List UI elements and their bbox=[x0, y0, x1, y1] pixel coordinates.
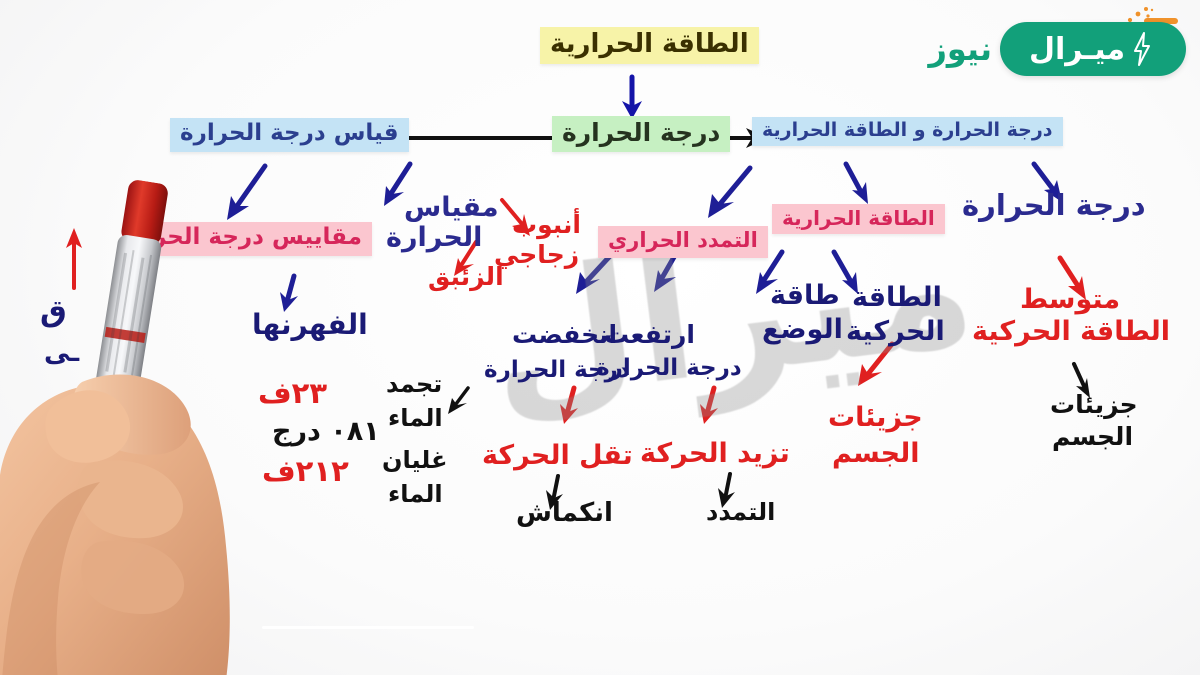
node-body-molecules-center-line2: الجسم bbox=[832, 440, 920, 469]
node-glass-tube-line1: أنبوب bbox=[512, 212, 581, 239]
node-temperature: درجة الحرارة bbox=[552, 116, 730, 152]
site-logo[interactable]: نيوز ميـرال bbox=[928, 14, 1186, 84]
node-measuring-temperature: قياس درجة الحرارة bbox=[170, 118, 409, 152]
node-temperature-and-thermal-energy: درجة الحرارة و الطاقة الحرارية bbox=[752, 117, 1063, 146]
node-temperature-right: درجة الحرارة bbox=[962, 190, 1146, 221]
node-mercury: الزئبق bbox=[428, 264, 504, 291]
node-body-molecules-center-line1: جزيئات bbox=[828, 404, 923, 433]
node-boil-water-line2: الماء bbox=[388, 482, 443, 507]
node-thermometer-line2: الحرارة bbox=[386, 224, 482, 253]
arrow-to-freeze-water bbox=[440, 382, 484, 426]
arrow-tae-to-expansion bbox=[690, 162, 760, 232]
node-temperature-rose-line1: ارتفعت bbox=[604, 322, 695, 349]
node-boil-water-line1: غليان bbox=[382, 448, 447, 473]
node-freeze-water-line2: الماء bbox=[388, 406, 443, 431]
node-root: الطاقة الحرارية bbox=[540, 27, 759, 64]
node-motion-decreases: تقل الحركة bbox=[482, 442, 633, 471]
logo-news-text: نيوز bbox=[928, 30, 992, 68]
hand-holding-marker bbox=[0, 250, 290, 675]
lightning-bolt-icon bbox=[1131, 32, 1153, 66]
node-motion-increases: تزيد الحركة bbox=[640, 440, 790, 469]
node-thermal-energy: الطاقة الحرارية bbox=[772, 204, 945, 234]
node-freeze-water-line1: تجمد bbox=[386, 372, 442, 397]
logo-brand-text: ميـرال bbox=[1029, 32, 1125, 67]
node-body-molecules-right-line2: الجسم bbox=[1052, 424, 1133, 451]
node-thermal-expansion: التمدد الحراري bbox=[598, 226, 768, 258]
node-potential-energy-line2: الوضع bbox=[762, 316, 843, 345]
node-thermometer-line1: مقياس bbox=[404, 194, 499, 223]
node-potential-energy-line1: طاقة bbox=[770, 282, 840, 311]
node-average-kinetic-energy-line1: متوسط bbox=[1020, 286, 1120, 315]
arrow-temp-rose-to-motion-increases bbox=[690, 384, 732, 434]
arrow-energies-to-body-molecules-center bbox=[840, 340, 910, 398]
node-temperature-dropped-line2: درجة الحرارة bbox=[484, 358, 630, 382]
logo-pill[interactable]: ميـرال bbox=[1000, 22, 1186, 76]
node-expansion: التمدد bbox=[706, 500, 775, 525]
node-kinetic-energy-line2: الحركية bbox=[846, 318, 945, 347]
node-temperature-dropped-line1: انخفضت bbox=[512, 322, 617, 349]
node-kinetic-energy-line1: الطاقة bbox=[852, 284, 942, 313]
arrow-temp-dropped-to-motion-decreases bbox=[550, 384, 592, 434]
node-body-molecules-right-line1: جزيئات bbox=[1050, 392, 1138, 419]
node-average-kinetic-energy-line2: الطاقة الحركية bbox=[972, 318, 1170, 347]
node-contraction: انكماش bbox=[516, 500, 613, 528]
underline-accent bbox=[262, 626, 474, 629]
node-glass-tube-line2: زجاجي bbox=[494, 242, 579, 269]
whiteboard-canvas: ميرال الطاقة الحرارية درجة الحرارة قياس … bbox=[0, 0, 1200, 675]
